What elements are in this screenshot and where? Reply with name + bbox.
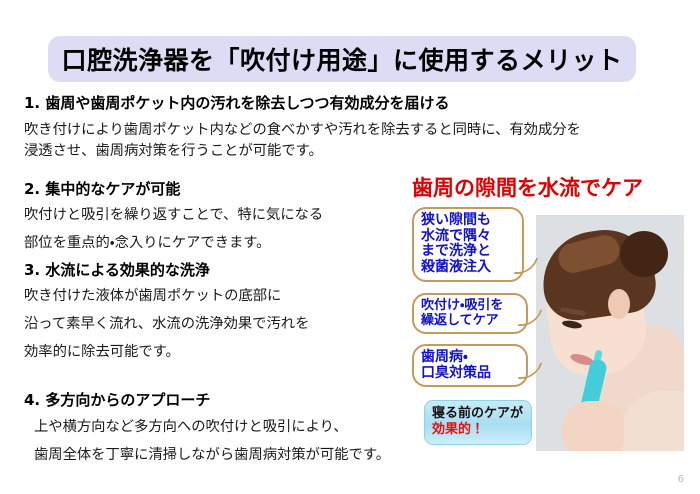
section-2: 2. 集中的なケアが可能 吹付けと吸引を繰り返すことで、特に気になる 部位を重点…	[24, 179, 323, 258]
callout-highlight-line-1: 寝る前のケアが	[432, 406, 523, 421]
photo-ear-shape	[608, 289, 630, 319]
section-2-line-1: 吹付けと吸引を繰り返すことで、特に気になる	[24, 202, 323, 230]
section-2-heading: 2. 集中的なケアが可能	[24, 179, 323, 199]
section-3-heading: 3. 水流による効果的な洗浄	[24, 260, 309, 280]
callout-2-line-1: 吹付け・吸引を	[421, 299, 520, 314]
section-3: 3. 水流による効果的な洗浄 吹き付けた液体が歯周ポケットの底部に 沿って素早く…	[24, 260, 309, 367]
section-1-heading: 1. 歯周や歯周ポケット内の汚れを除去しつつ有効成分を届ける	[24, 93, 581, 113]
section-4-line-2: 歯周全体を丁寧に清掃しながら歯周病対策が可能です。	[24, 442, 390, 470]
callout-2-line-2: 繰返してケア	[421, 314, 520, 329]
photo-hair-bun	[620, 231, 668, 277]
callout-bubble-3: 歯周病・ 口臭対策品	[412, 344, 528, 387]
slide-canvas: 口腔洗浄器を「吹付け用途」に使用するメリット 1. 歯周や歯周ポケット内の汚れを…	[0, 0, 700, 494]
callout-bubble-2: 吹付け・吸引を 繰返してケア	[412, 293, 528, 334]
section-3-line-3: 効率的に除去可能です。	[24, 339, 309, 367]
section-4: 4. 多方向からのアプローチ 上や横方向など多方向への吹付けと吸引により、 歯周…	[24, 390, 390, 470]
section-3-line-1: 吹き付けた液体が歯周ポケットの底部に	[24, 283, 309, 311]
section-1-line-2: 浸透させ、歯周病対策を行うことが可能です。	[24, 141, 581, 162]
section-2-line-2: 部位を重点的・念入りにケアできます。	[24, 230, 323, 258]
callout-1-line-3: まで洗浄と	[421, 244, 516, 260]
callout-bubble-1: 狭い隙間も 水流で隅々 まで洗浄と 殺菌液注入	[412, 207, 524, 282]
page-title: 口腔洗浄器を「吹付け用途」に使用するメリット	[48, 36, 636, 82]
callout-highlight-line-2: 効果的！	[432, 422, 524, 438]
callout-1-line-2: 水流で隅々	[421, 229, 516, 245]
callout-3-line-2: 口臭対策品	[421, 366, 520, 382]
page-number: 6	[678, 474, 684, 485]
section-1: 1. 歯周や歯周ポケット内の汚れを除去しつつ有効成分を届ける 吹き付けにより歯周…	[24, 93, 581, 162]
section-4-line-1: 上や横方向など多方向への吹付けと吸引により、	[24, 414, 390, 442]
section-3-line-2: 沿って素早く流れ、水流の洗浄効果で汚れを	[24, 311, 309, 339]
section-4-heading: 4. 多方向からのアプローチ	[24, 390, 390, 410]
callout-highlight-box: 寝る前のケアが 効果的！	[424, 400, 532, 445]
callout-1-line-4: 殺菌液注入	[421, 260, 516, 276]
callout-1-line-1: 狭い隙間も	[421, 213, 516, 229]
promo-headline: 歯周の隙間を水流でケア	[412, 172, 643, 202]
photo-hand-shape	[562, 401, 624, 451]
woman-using-irrigator-photo	[536, 215, 684, 451]
section-1-line-1: 吹き付けにより歯周ポケット内などの食べかすや汚れを除去すると同時に、有効成分を	[24, 120, 581, 141]
callout-3-line-1: 歯周病・	[421, 350, 520, 366]
